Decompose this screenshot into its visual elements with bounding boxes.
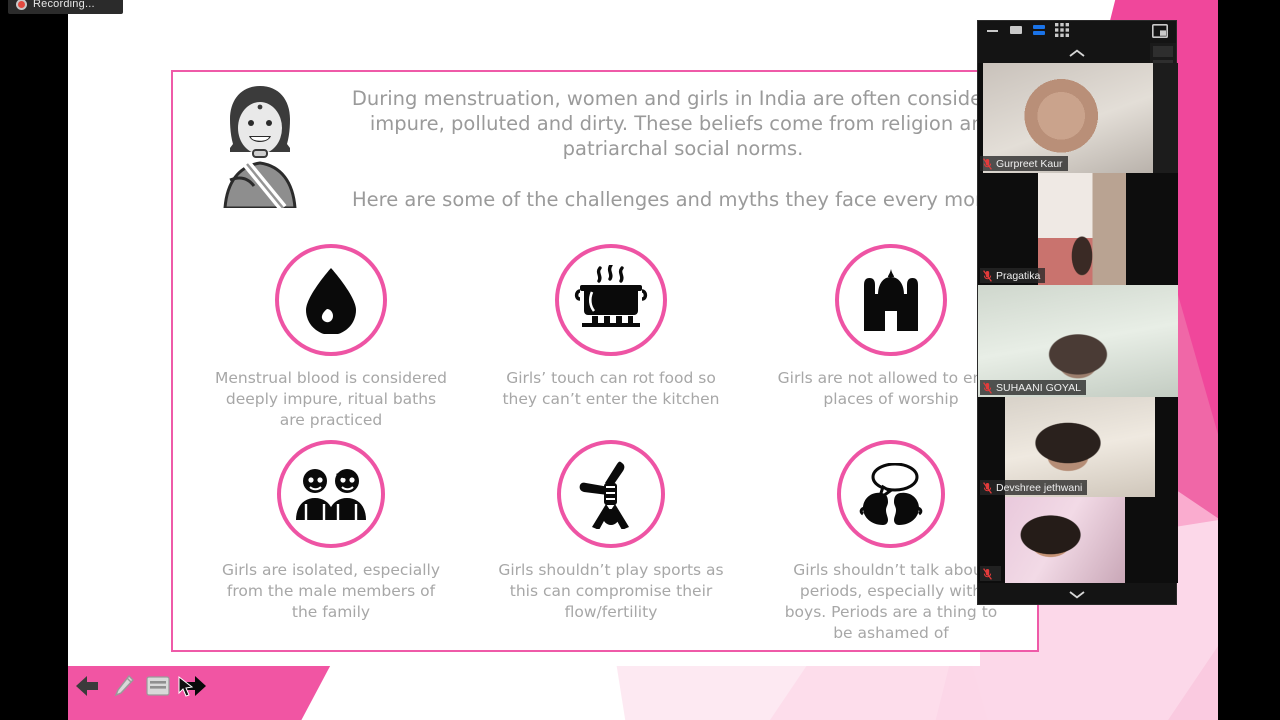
- participant-tile[interactable]: [978, 497, 1178, 583]
- video-feed-edge: [1153, 63, 1178, 173]
- screen-root: During menstruation, women and girls in …: [0, 0, 1280, 720]
- myth-item: Girls are isolated, especially from the …: [191, 440, 471, 644]
- athlete-icon: [576, 459, 646, 529]
- myths-icon-grid: Menstrual blood is considered deeply imp…: [191, 244, 1031, 644]
- picture-in-picture-icon[interactable]: [1152, 24, 1168, 43]
- participant-tile[interactable]: Devshree jethwani: [978, 397, 1178, 497]
- participant-name: SUHAANI GOYAL: [996, 382, 1081, 394]
- blood-drop-icon: [300, 266, 362, 334]
- participant-tiles: Gurpreet Kaur Pragatika: [978, 63, 1178, 585]
- myth-caption: Girls are not allowed to enter places of…: [777, 368, 1005, 410]
- participant-name-tag: Gurpreet Kaur: [980, 156, 1068, 171]
- myth-item: Girls’ touch can rot food so they can’t …: [471, 244, 751, 440]
- participant-name: Devshree jethwani: [996, 482, 1082, 494]
- notes-icon[interactable]: [146, 676, 170, 696]
- recording-label: Recording...: [33, 0, 95, 10]
- participant-tile[interactable]: Gurpreet Kaur: [978, 63, 1178, 173]
- myth-caption: Girls are isolated, especially from the …: [213, 560, 449, 623]
- scroll-up-chevron-icon[interactable]: [978, 43, 1176, 63]
- single-view-icon[interactable]: [1009, 23, 1023, 41]
- participant-name-tag: SUHAANI GOYAL: [980, 380, 1086, 395]
- participant-name-tag: Pragatika: [980, 268, 1045, 283]
- video-panel-toolbar[interactable]: [978, 21, 1176, 43]
- header-subtitle: Here are some of the challenges and myth…: [338, 187, 1028, 212]
- two-heads-speech-bubble-icon: [853, 463, 929, 525]
- family-group-icon: [294, 468, 368, 520]
- icon-circle: [277, 440, 385, 548]
- participant-name: Pragatika: [996, 270, 1040, 282]
- video-participants-panel: Gurpreet Kaur Pragatika: [977, 20, 1177, 605]
- icon-circle: [557, 440, 665, 548]
- participant-tile[interactable]: Pragatika: [978, 173, 1178, 285]
- participant-name-tag: Devshree jethwani: [980, 480, 1087, 495]
- cooking-pot-icon: [574, 265, 648, 335]
- scroll-down-chevron-icon[interactable]: [978, 584, 1176, 604]
- split-view-icon[interactable]: [1032, 23, 1046, 41]
- myth-item: Girls shouldn’t play sports as this can …: [471, 440, 751, 644]
- mouse-pointer-icon: [178, 676, 194, 698]
- icon-circle: [275, 244, 387, 356]
- myth-caption: Girls shouldn’t play sports as this can …: [496, 560, 726, 623]
- indian-woman-sari-illustration-icon: [205, 80, 315, 208]
- slide-header-text: During menstruation, women and girls in …: [338, 86, 1028, 212]
- temple-icon: [856, 269, 926, 331]
- icon-circle: [555, 244, 667, 356]
- mic-muted-icon: [983, 158, 992, 170]
- slide-header: During menstruation, women and girls in …: [173, 72, 1041, 227]
- participant-name-tag: [980, 566, 1001, 581]
- slide-frame: During menstruation, women and girls in …: [171, 70, 1039, 652]
- minimize-icon[interactable]: [986, 23, 1000, 41]
- video-feed: [1005, 497, 1125, 583]
- pencil-annotate-icon[interactable]: [112, 674, 134, 698]
- myth-caption: Girls shouldn’t talk about periods, espe…: [777, 560, 1005, 644]
- recording-indicator: Recording...: [8, 0, 123, 14]
- mic-muted-icon: [983, 482, 992, 494]
- video-feed-detail: [1038, 173, 1126, 285]
- myth-caption: Girls’ touch can rot food so they can’t …: [496, 368, 726, 410]
- myth-caption: Menstrual blood is considered deeply imp…: [213, 368, 449, 431]
- slide-top-margin: [68, 0, 980, 26]
- mic-muted-icon: [983, 568, 992, 580]
- icon-circle: [837, 440, 945, 548]
- myth-item: Menstrual blood is considered deeply imp…: [191, 244, 471, 440]
- participant-name: Gurpreet Kaur: [996, 158, 1063, 170]
- icon-circle: [835, 244, 947, 356]
- header-paragraph: During menstruation, women and girls in …: [338, 86, 1028, 161]
- record-dot-icon: [16, 0, 27, 10]
- back-arrow-icon[interactable]: [74, 674, 100, 698]
- grid-view-icon[interactable]: [1055, 23, 1069, 42]
- mic-muted-icon: [983, 382, 992, 394]
- slide-navigation-toolbar[interactable]: [68, 666, 258, 706]
- mic-muted-icon: [983, 270, 992, 282]
- participant-tile[interactable]: SUHAANI GOYAL: [978, 285, 1178, 397]
